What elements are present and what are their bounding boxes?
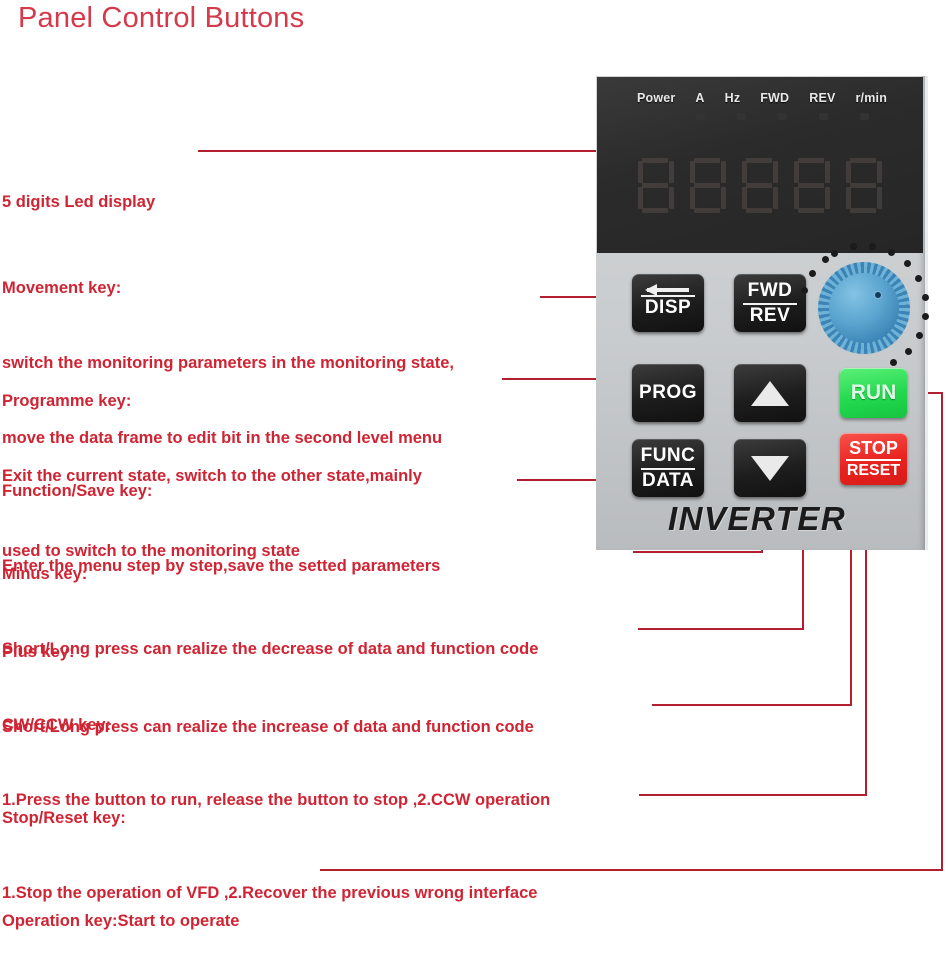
potentiometer-knob[interactable] [823, 267, 905, 349]
led-segment [773, 161, 778, 183]
led-segment [742, 187, 747, 209]
annotation-stopreset-line-1: Stop/Reset key: [2, 806, 537, 831]
led-segment [669, 187, 674, 209]
led-segment [642, 208, 668, 213]
led-seven-segment-digits [635, 155, 885, 217]
annotation-operation: Operation key:Start to operate [2, 859, 239, 959]
led-indicator-power: Power [637, 91, 676, 105]
leader-line-display [198, 150, 660, 152]
led-digit [687, 157, 729, 215]
knob-scale-dot [922, 313, 929, 320]
led-segment [690, 161, 695, 183]
led-segment [794, 161, 799, 183]
led-lamp-power [655, 113, 664, 120]
stop-reset-button-label-top: STOP [849, 439, 898, 458]
led-segment [846, 187, 851, 209]
annotation-movement-line-1: Movement key: [2, 276, 454, 301]
annotation-cwccw-line-1: CW/CCW key: [2, 713, 550, 738]
led-segment [794, 187, 799, 209]
leader-line-plus-h [638, 628, 804, 630]
func-data-button-label-top: FUNC [641, 446, 696, 467]
led-segment [877, 161, 882, 183]
led-indicator-rev: REV [809, 91, 835, 105]
key-divider [846, 459, 901, 461]
page-title: Panel Control Buttons [18, 2, 304, 35]
fwd-rev-button-label-bottom: REV [750, 306, 791, 326]
led-indicator-lamps [597, 113, 923, 125]
led-segment [850, 158, 876, 163]
led-lamp-hz [737, 113, 746, 120]
inverter-panel: Power A Hz FWD REV r/min DISP FWD REV PR… [596, 76, 925, 550]
led-segment [846, 161, 851, 183]
led-segment [638, 187, 643, 209]
knob-scale-dot [922, 294, 929, 301]
fwd-rev-button-label-top: FWD [748, 281, 793, 302]
led-indicator-rmin: r/min [855, 91, 887, 105]
knob-scale-dot [916, 332, 923, 339]
annotation-minus-line-1: Minus key: [2, 562, 538, 587]
led-segment [694, 208, 720, 213]
knob-position-marker [875, 292, 881, 298]
up-arrow-button[interactable] [734, 364, 806, 422]
led-indicator-hz: Hz [725, 91, 741, 105]
led-segment [746, 158, 772, 163]
stop-reset-button-label-bottom: RESET [847, 462, 900, 480]
led-digit [739, 157, 781, 215]
led-segment [798, 158, 824, 163]
led-segment [721, 161, 726, 183]
led-segment [746, 183, 772, 188]
led-segment [694, 183, 720, 188]
led-segment [746, 208, 772, 213]
annotation-function-line-1: Function/Save key: [2, 479, 440, 504]
led-indicator-labels: Power A Hz FWD REV r/min [597, 91, 923, 105]
disp-button-label: DISP [645, 298, 691, 318]
annotation-programme-line-1: Programme key: [2, 389, 422, 414]
led-segment [798, 183, 824, 188]
led-segment [825, 187, 830, 209]
stop-reset-button[interactable]: STOP RESET [840, 433, 907, 485]
annotation-display: 5 digits Led display [2, 140, 155, 240]
run-button[interactable]: RUN [840, 368, 907, 418]
annotation-operation-line-1: Operation key:Start to operate [2, 909, 239, 934]
led-indicator-fwd: FWD [760, 91, 789, 105]
led-segment [690, 187, 695, 209]
led-lamp-fwd [778, 113, 787, 120]
func-data-button-label-bottom: DATA [642, 471, 694, 491]
led-segment [721, 187, 726, 209]
led-segment [642, 158, 668, 163]
knob-scale-dot [904, 260, 911, 267]
knob-scale-dot [905, 348, 912, 355]
knob-top-face [829, 273, 899, 343]
led-segment [850, 208, 876, 213]
knob-scale-dot [888, 249, 895, 256]
led-segment [694, 158, 720, 163]
annotation-display-line-1: 5 digits Led display [2, 190, 155, 215]
knob-scale-dot [809, 270, 816, 277]
led-segment [850, 183, 876, 188]
knob-scale-dot [822, 256, 829, 263]
led-segment [877, 187, 882, 209]
led-segment [642, 183, 668, 188]
leader-line-minus-h [633, 551, 763, 553]
led-digit [791, 157, 833, 215]
leader-line-stopreset-h [639, 794, 867, 796]
knob-scale-dot [890, 359, 897, 366]
led-segment [638, 161, 643, 183]
prog-button[interactable]: PROG [632, 364, 704, 422]
led-digit [635, 157, 677, 215]
annotation-plus-line-1: Plus key: [2, 640, 534, 665]
leader-line-operation-v [941, 392, 943, 871]
led-display: Power A Hz FWD REV r/min [597, 77, 923, 253]
led-segment [798, 208, 824, 213]
led-segment [773, 187, 778, 209]
led-lamp-rmin [860, 113, 869, 120]
prog-button-label: PROG [639, 383, 697, 404]
led-indicator-amps: A [695, 91, 704, 105]
brand-label: INVERTER [668, 500, 846, 538]
led-segment [669, 161, 674, 183]
led-lamp-rev [819, 113, 828, 120]
led-lamp-amps [696, 113, 705, 120]
fwd-rev-button[interactable]: FWD REV [734, 274, 806, 332]
down-arrow-icon [751, 456, 789, 481]
func-data-button[interactable]: FUNC DATA [632, 439, 704, 497]
down-arrow-button[interactable] [734, 439, 806, 497]
led-digit [843, 157, 885, 215]
disp-button[interactable]: DISP [632, 274, 704, 332]
led-segment [742, 161, 747, 183]
run-button-label: RUN [851, 381, 897, 405]
leader-line-operation-h [320, 869, 943, 871]
leader-line-cwccw-h [652, 704, 852, 706]
left-arrow-icon [647, 288, 689, 292]
led-segment [825, 161, 830, 183]
up-arrow-icon [751, 381, 789, 406]
